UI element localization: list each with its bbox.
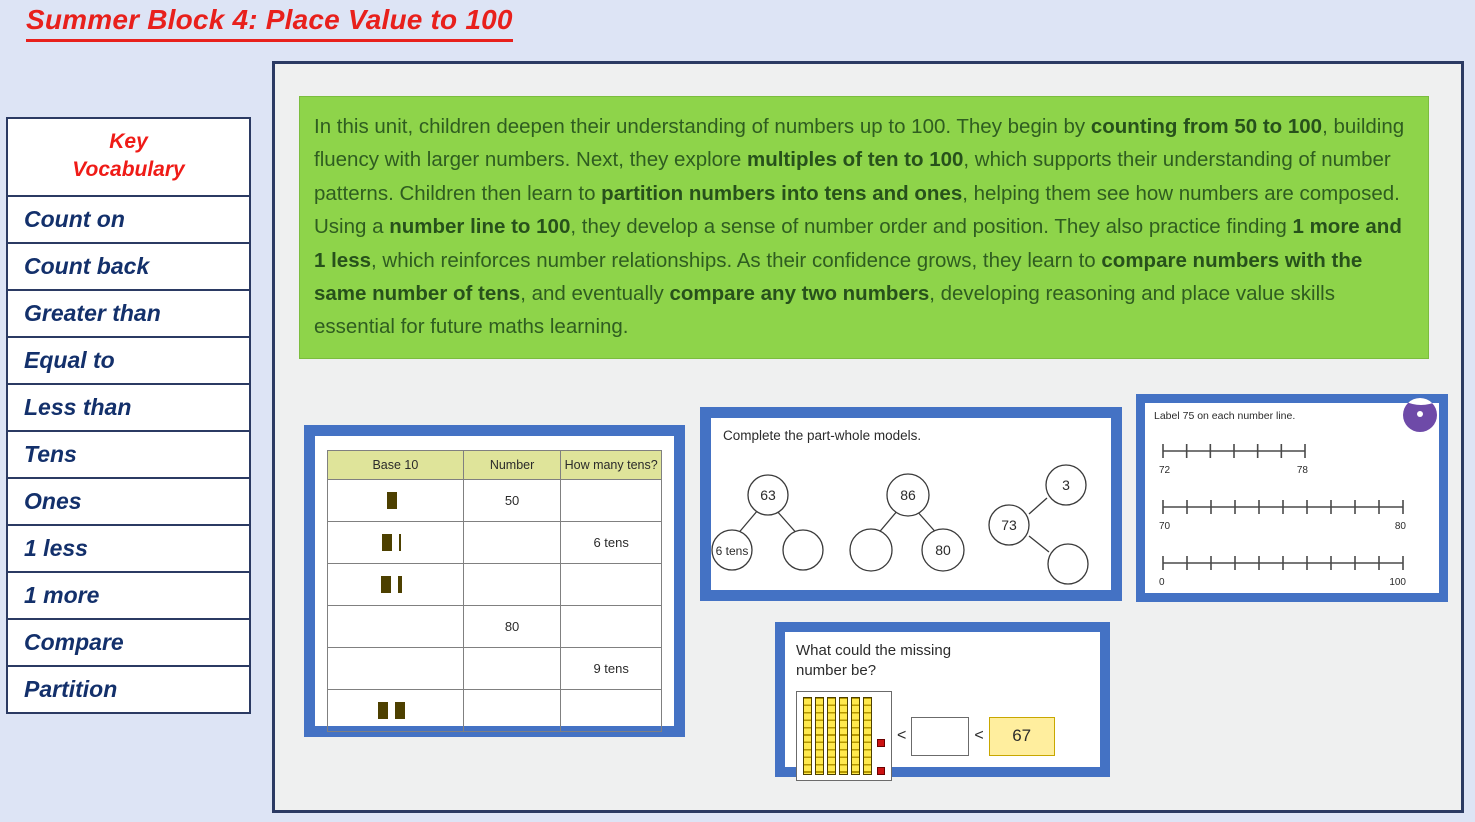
base-ten-rod-group (378, 703, 388, 718)
main-content-panel: In this unit, children deepen their unde… (272, 61, 1464, 813)
table-row (328, 690, 662, 732)
vocab-item: Tens (8, 432, 249, 479)
base-ten-table-body: 506 tens809 tens (328, 480, 662, 732)
ten-rod-icon (803, 697, 812, 775)
ten-rod-icon (389, 576, 391, 593)
page-title: Summer Block 4: Place Value to 100 (26, 4, 513, 42)
cell-tens: 9 tens (561, 648, 662, 690)
whole-circle-label: 63 (760, 487, 776, 503)
summary-text-run: , they develop a sense of number order a… (570, 215, 1292, 238)
number-line-end-label: 100 (1389, 577, 1406, 588)
table-row: 6 tens (328, 522, 662, 564)
ten-rod-icon (863, 697, 872, 775)
less-than-symbol-1: < (897, 727, 906, 745)
summary-bold-term: number line to 100 (389, 215, 570, 238)
character-eye-icon (1417, 411, 1423, 417)
missing-number-inner: What could the missing number be? < < 67 (785, 632, 1100, 767)
table-row (328, 564, 662, 606)
cell-number (463, 522, 560, 564)
number-line-start-label: 70 (1159, 521, 1171, 532)
missing-number-card: What could the missing number be? < < 67 (775, 622, 1110, 777)
vocab-item: 1 more (8, 573, 249, 620)
summary-text-run: In this unit, children deepen their unde… (314, 115, 1091, 138)
ten-rod-icon (390, 534, 392, 551)
vocabulary-heading: Key Vocabulary (8, 119, 249, 197)
given-number-box: 67 (989, 717, 1055, 756)
base-ten-table-card: Base 10 Number How many tens? 506 tens80… (304, 425, 685, 737)
cell-base10 (328, 690, 464, 732)
part-circle-label: 6 tens (716, 544, 749, 558)
cell-base10 (328, 480, 464, 522)
table-row: 80 (328, 606, 662, 648)
part-circle-label: 80 (935, 542, 951, 558)
cell-base10 (328, 522, 464, 564)
summary-bold-term: partition numbers into tens and ones (601, 182, 962, 205)
base-ten-rod-group (395, 703, 405, 718)
number-line-start-label: 72 (1159, 465, 1171, 476)
column-header-base10: Base 10 (328, 451, 464, 480)
base-ten-rod-group (387, 493, 397, 508)
cell-number: 50 (463, 480, 560, 522)
part-whole-inner: Complete the part-whole models. 636 tens… (711, 418, 1111, 590)
vocabulary-heading-line2: Vocabulary (12, 156, 245, 184)
summary-bold-term: multiples of ten to 100 (747, 148, 963, 171)
cell-tens (561, 690, 662, 732)
ten-rod-icon (827, 697, 836, 775)
vocab-item: Less than (8, 385, 249, 432)
cell-number (463, 690, 560, 732)
cell-base10 (328, 606, 464, 648)
base-ten-rod-group (398, 577, 402, 592)
ten-rod-icon (400, 576, 402, 593)
part-circle-label: 3 (1062, 477, 1070, 493)
number-lines-diagram: 727870800100 (1145, 419, 1439, 591)
cell-tens (561, 606, 662, 648)
cell-base10 (328, 648, 464, 690)
vocab-item: 1 less (8, 526, 249, 573)
whole-circle-label: 73 (1001, 517, 1017, 533)
cell-number (463, 648, 560, 690)
number-line-end-label: 80 (1395, 521, 1407, 532)
part-circle (1048, 544, 1088, 584)
part-whole-diagram: 636 tens8680733 (711, 440, 1109, 586)
ten-rod-icon (386, 702, 388, 719)
one-cube-icon (877, 739, 885, 747)
ones-column (877, 697, 885, 775)
table-header-row: Base 10 Number How many tens? (328, 451, 662, 480)
number-line-card: Label 75 on each number line. 7278708001… (1136, 394, 1448, 602)
column-header-number: Number (463, 451, 560, 480)
missing-number-title-line2: number be? (796, 661, 1089, 681)
table-row: 9 tens (328, 648, 662, 690)
summary-text-run: , which reinforces number relationships.… (371, 249, 1101, 272)
base-ten-table-inner: Base 10 Number How many tens? 506 tens80… (315, 436, 674, 726)
table-row: 50 (328, 480, 662, 522)
part-whole-card: Complete the part-whole models. 636 tens… (700, 407, 1122, 601)
number-line-inner: Label 75 on each number line. 7278708001… (1145, 403, 1439, 593)
vocab-item: Partition (8, 667, 249, 712)
vocab-item: Count back (8, 244, 249, 291)
base-ten-representation (796, 691, 892, 781)
base-ten-rod-group (382, 535, 392, 550)
cell-tens (561, 480, 662, 522)
cell-number: 80 (463, 606, 560, 648)
vocab-item: Equal to (8, 338, 249, 385)
unit-summary-text: In this unit, children deepen their unde… (299, 96, 1429, 359)
number-line-start-label: 0 (1159, 577, 1165, 588)
missing-number-input[interactable] (911, 717, 969, 756)
part-whole-connector (1029, 498, 1047, 514)
cell-tens: 6 tens (561, 522, 662, 564)
key-vocabulary-panel: Key Vocabulary Count on Count back Great… (6, 117, 251, 714)
number-line-end-label: 78 (1297, 465, 1309, 476)
ten-rod-icon (839, 697, 848, 775)
summary-bold-term: counting from 50 to 100 (1091, 115, 1322, 138)
vocabulary-heading-line1: Key (12, 128, 245, 156)
less-than-symbol-2: < (974, 727, 983, 745)
missing-number-title-line1: What could the missing (796, 641, 1089, 661)
cell-number (463, 564, 560, 606)
whole-circle-label: 86 (900, 487, 916, 503)
base-ten-rod-group (399, 535, 401, 550)
comparison-row: < < 67 (796, 691, 1055, 781)
base-ten-table: Base 10 Number How many tens? 506 tens80… (327, 450, 662, 732)
ten-rod-icon (403, 702, 405, 719)
base-ten-rod-group (381, 577, 391, 592)
part-circle (850, 529, 892, 571)
summary-bold-term: compare any two numbers (670, 282, 930, 305)
column-header-tens: How many tens? (561, 451, 662, 480)
cell-tens (561, 564, 662, 606)
ten-rod-icon (399, 534, 401, 551)
one-cube-icon (877, 767, 885, 775)
ten-rod-icon (851, 697, 860, 775)
summary-text-run: , and eventually (520, 282, 669, 305)
vocab-item: Compare (8, 620, 249, 667)
part-circle (783, 530, 823, 570)
cell-base10 (328, 564, 464, 606)
part-whole-connector (1029, 536, 1049, 552)
vocab-item: Greater than (8, 291, 249, 338)
missing-number-title: What could the missing number be? (796, 641, 1089, 681)
ten-rod-icon (815, 697, 824, 775)
vocab-item: Ones (8, 479, 249, 526)
ten-rod-icon (395, 492, 397, 509)
vocab-item: Count on (8, 197, 249, 244)
